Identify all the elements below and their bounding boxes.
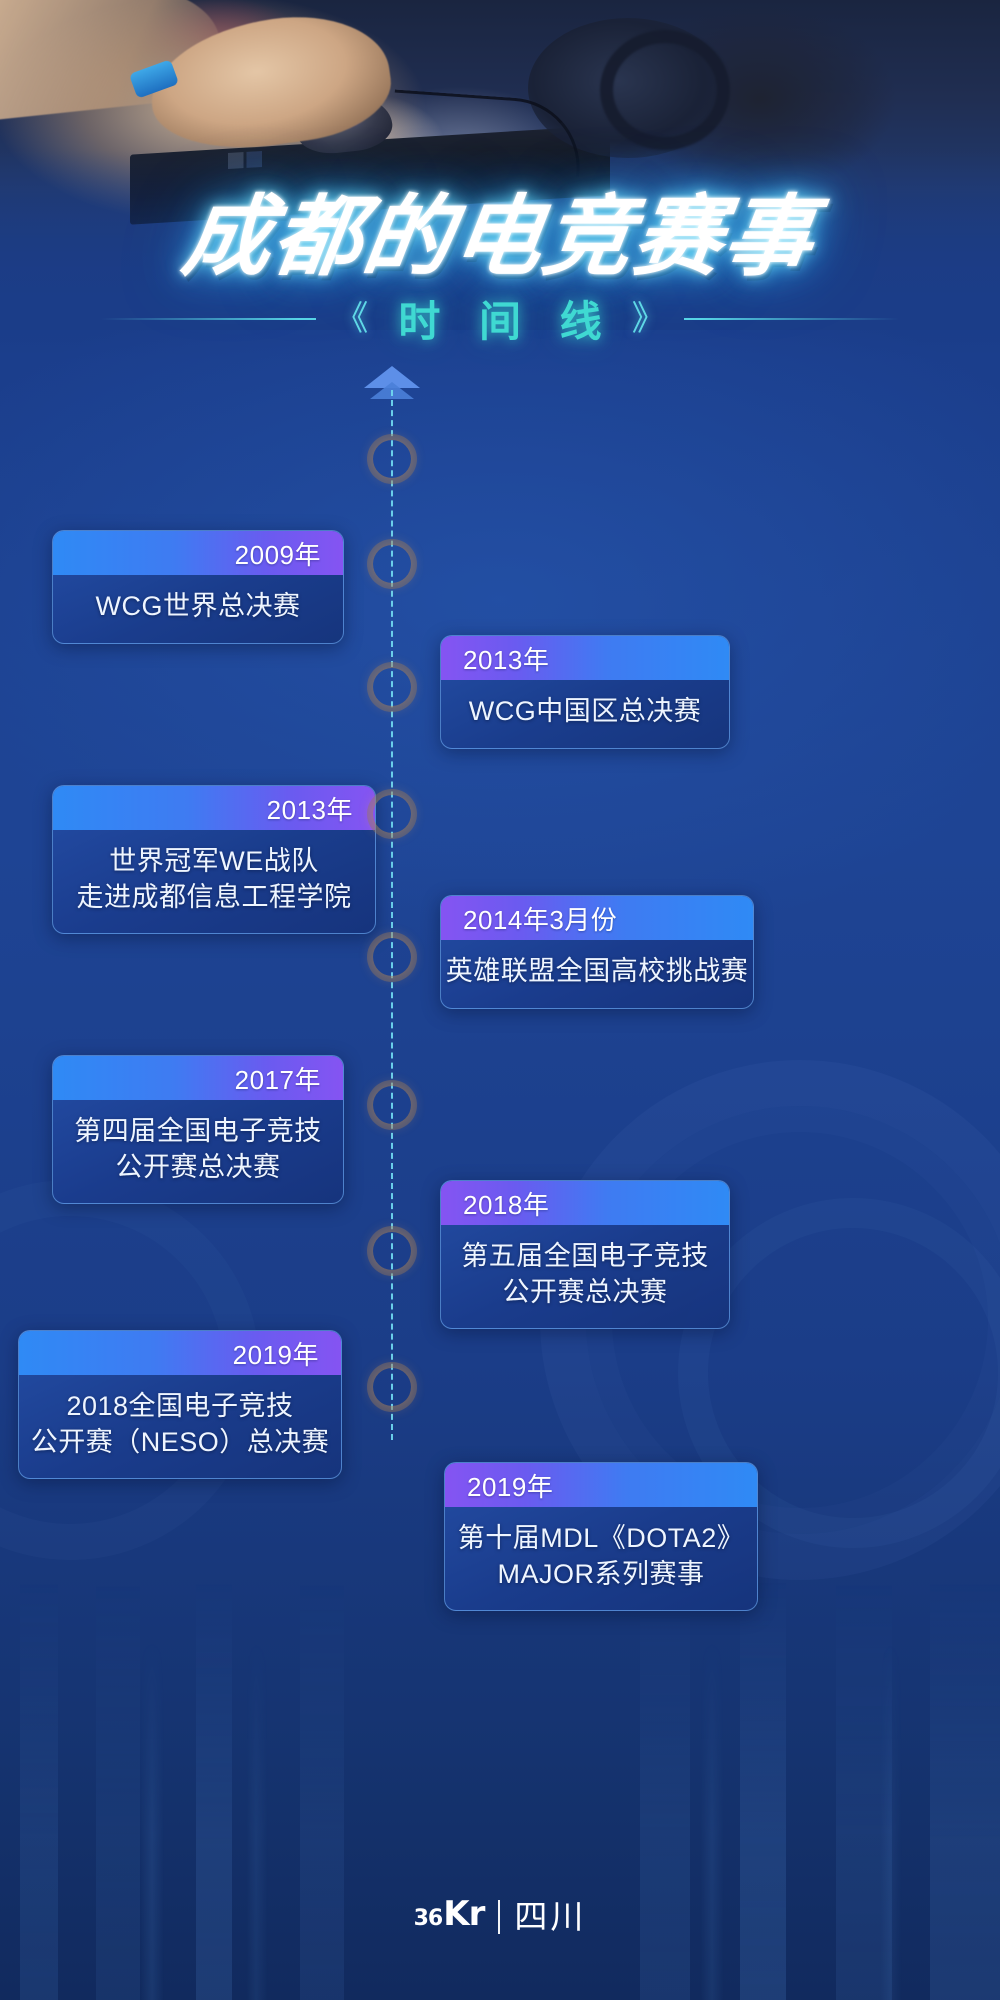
timeline-card-body: 世界冠军WE战队走进成都信息工程学院 bbox=[53, 830, 375, 933]
subtitle-rule-right bbox=[684, 318, 899, 320]
timeline-card-text: 第四届全国电子竞技 bbox=[74, 1114, 322, 1150]
timeline-card-text: 公开赛总决赛 bbox=[116, 1150, 281, 1186]
timeline-card-text: 英雄联盟全国高校挑战赛 bbox=[446, 954, 749, 990]
timeline-card-header: 2014年3月份 bbox=[441, 896, 753, 940]
timeline-card-year: 2017年 bbox=[235, 1060, 321, 1097]
timeline-card[interactable]: 2019年第十届MDL《DOTA2》MAJOR系列赛事 bbox=[444, 1462, 758, 1611]
poster-root: 成都的电竞赛事 《 时 间 线 》 2009年WCG世界总决赛2013年WCG中… bbox=[0, 0, 1000, 2000]
subtitle-block: 《 时 间 线 》 bbox=[0, 288, 1000, 349]
hero-photo bbox=[0, 0, 1000, 330]
timeline-card-text: 公开赛（NESO）总决赛 bbox=[31, 1425, 330, 1461]
timeline-card[interactable]: 2018年第五届全国电子竞技公开赛总决赛 bbox=[440, 1180, 730, 1329]
timeline-card-body: 第五届全国电子竞技公开赛总决赛 bbox=[441, 1225, 729, 1328]
timeline-card-year: 2019年 bbox=[467, 1467, 553, 1504]
timeline-card-text: WCG中国区总决赛 bbox=[469, 694, 701, 730]
timeline-card-body: 2018全国电子竞技公开赛（NESO）总决赛 bbox=[19, 1375, 341, 1478]
timeline-card-text: 世界冠军WE战队 bbox=[109, 844, 319, 880]
timeline-card-year: 2013年 bbox=[267, 790, 353, 827]
timeline-card[interactable]: 2019年2018全国电子竞技公开赛（NESO）总决赛 bbox=[18, 1330, 342, 1479]
footer-logo: 36 Kr 四川 bbox=[0, 1890, 1000, 1938]
light-beams-decoration bbox=[0, 1640, 1000, 2000]
timeline-card-year: 2009年 bbox=[235, 535, 321, 572]
subtitle-rule-left bbox=[101, 318, 316, 320]
brand-region: 四川 bbox=[514, 1890, 586, 1938]
timeline-card-year: 2013年 bbox=[463, 640, 549, 677]
timeline-dot bbox=[373, 1368, 411, 1406]
timeline-dot bbox=[373, 938, 411, 976]
timeline-card-body: 第四届全国电子竞技公开赛总决赛 bbox=[53, 1100, 343, 1203]
timeline-card-header: 2019年 bbox=[19, 1331, 341, 1375]
timeline-card[interactable]: 2014年3月份英雄联盟全国高校挑战赛 bbox=[440, 895, 754, 1009]
timeline-dot bbox=[373, 440, 411, 478]
timeline-dot bbox=[373, 545, 411, 583]
timeline-dot bbox=[373, 668, 411, 706]
timeline-card-body: WCG中国区总决赛 bbox=[441, 680, 729, 748]
timeline-card-header: 2013年 bbox=[441, 636, 729, 680]
timeline-dot bbox=[373, 1086, 411, 1124]
timeline-dot bbox=[373, 1232, 411, 1270]
timeline-card-year: 2014年3月份 bbox=[463, 900, 617, 937]
timeline-card[interactable]: 2017年第四届全国电子竞技公开赛总决赛 bbox=[52, 1055, 344, 1204]
timeline-card-text: 第十届MDL《DOTA2》 bbox=[458, 1521, 745, 1557]
timeline-card-text: 2018全国电子竞技 bbox=[66, 1389, 293, 1425]
timeline-card-year: 2019年 bbox=[233, 1335, 319, 1372]
timeline-card-text: 第五届全国电子竞技 bbox=[461, 1239, 709, 1275]
timeline-card-text: 走进成都信息工程学院 bbox=[77, 880, 352, 916]
chevron-right-icon: 》 bbox=[632, 302, 666, 336]
timeline-card-text: MAJOR系列赛事 bbox=[498, 1557, 705, 1593]
brand-36: 36 bbox=[414, 1906, 443, 1931]
brand-36kr: 36 Kr bbox=[414, 1894, 485, 1934]
timeline-dot bbox=[373, 795, 411, 833]
timeline-card-header: 2018年 bbox=[441, 1181, 729, 1225]
timeline-card-year: 2018年 bbox=[463, 1185, 549, 1222]
timeline-card-body: 英雄联盟全国高校挑战赛 bbox=[441, 940, 753, 1008]
chevron-left-icon: 《 bbox=[334, 302, 368, 336]
timeline-card-body: WCG世界总决赛 bbox=[53, 575, 343, 643]
timeline-card-text: WCG世界总决赛 bbox=[96, 589, 301, 625]
timeline-card-header: 2019年 bbox=[445, 1463, 757, 1507]
timeline-card-header: 2009年 bbox=[53, 531, 343, 575]
timeline-card-header: 2017年 bbox=[53, 1056, 343, 1100]
timeline-card[interactable]: 2013年世界冠军WE战队走进成都信息工程学院 bbox=[52, 785, 376, 934]
headset-earcup bbox=[600, 30, 730, 150]
timeline-card-text: 公开赛总决赛 bbox=[503, 1275, 668, 1311]
timeline-card[interactable]: 2009年WCG世界总决赛 bbox=[52, 530, 344, 644]
brand-divider bbox=[498, 1900, 500, 1934]
timeline-card-header: 2013年 bbox=[53, 786, 375, 830]
subtitle-text: 时 间 线 bbox=[386, 288, 613, 349]
timeline-card[interactable]: 2013年WCG中国区总决赛 bbox=[440, 635, 730, 749]
brand-kr: Kr bbox=[443, 1894, 484, 1934]
timeline-card-body: 第十届MDL《DOTA2》MAJOR系列赛事 bbox=[445, 1507, 757, 1610]
